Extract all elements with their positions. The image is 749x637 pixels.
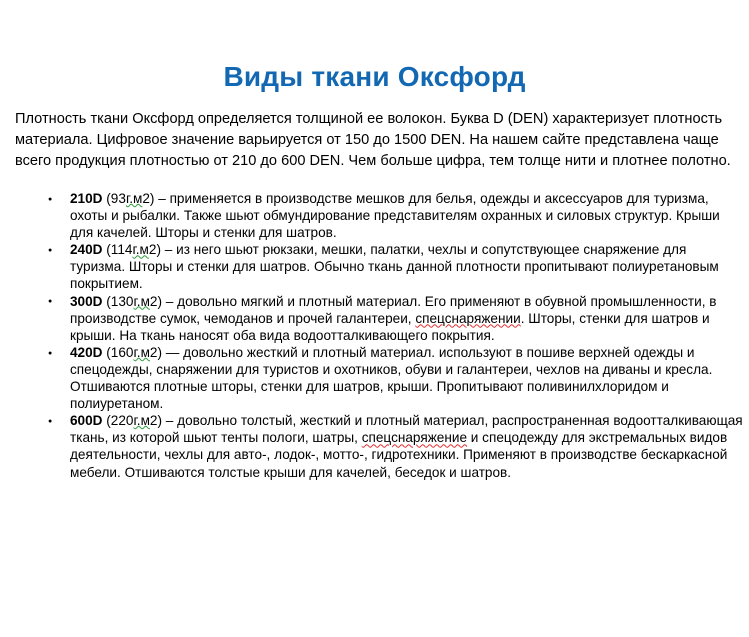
density-label: 300D xyxy=(70,294,103,309)
weight-value: (160 xyxy=(106,345,133,360)
list-item: 300D (130г.м2) – довольно мягкий и плотн… xyxy=(44,293,744,344)
bullet-icon xyxy=(48,344,58,362)
dash: — xyxy=(166,345,180,360)
grammar-flagged-text: г.м xyxy=(134,345,150,360)
spellcheck-flagged-word: спецснаряжение xyxy=(362,430,467,445)
weight-value: (220 xyxy=(106,413,133,428)
grammar-flagged-text: г.м xyxy=(134,294,150,309)
weight-suffix: 2) xyxy=(150,413,162,428)
dash: – xyxy=(158,191,166,206)
density-label: 210D xyxy=(70,191,103,206)
weight-suffix: 2) xyxy=(150,294,162,309)
spellcheck-flagged-word: спецснаряжении xyxy=(415,311,520,326)
weight-suffix: 2) xyxy=(149,242,161,257)
grammar-flagged-text: г.м xyxy=(134,413,150,428)
weight-value: (130 xyxy=(106,294,133,309)
document-page: Виды ткани Оксфорд Плотность ткани Оксфо… xyxy=(0,0,749,637)
density-list: 210D (93г.м2) – применяется в производст… xyxy=(44,190,744,481)
list-item: 240D (114г.м2) – из него шьют рюкзаки, м… xyxy=(44,241,744,292)
item-text-before: применяется в производстве мешков для бе… xyxy=(70,191,720,240)
page-title: Виды ткани Оксфорд xyxy=(0,60,749,94)
grammar-flagged-text: г.м xyxy=(132,242,148,257)
weight-value: (114 xyxy=(106,242,132,257)
bullet-icon xyxy=(48,190,58,208)
bullet-icon xyxy=(48,241,58,259)
grammar-flagged-text: г.м xyxy=(126,191,142,206)
list-item: 420D (160г.м2) — довольно жесткий и плот… xyxy=(44,344,744,412)
intro-paragraph: Плотность ткани Оксфорд определяется тол… xyxy=(15,109,733,172)
bullet-icon xyxy=(48,293,58,311)
weight-suffix: 2) xyxy=(142,191,154,206)
weight-value: (93 xyxy=(106,191,126,206)
density-label: 240D xyxy=(70,242,103,257)
weight-suffix: 2) xyxy=(150,345,162,360)
density-label: 600D xyxy=(70,413,103,428)
bullet-icon xyxy=(48,412,58,430)
list-item: 210D (93г.м2) – применяется в производст… xyxy=(44,190,744,241)
list-item: 600D (220г.м2) – довольно толстый, жестк… xyxy=(44,412,744,480)
density-label: 420D xyxy=(70,345,103,360)
